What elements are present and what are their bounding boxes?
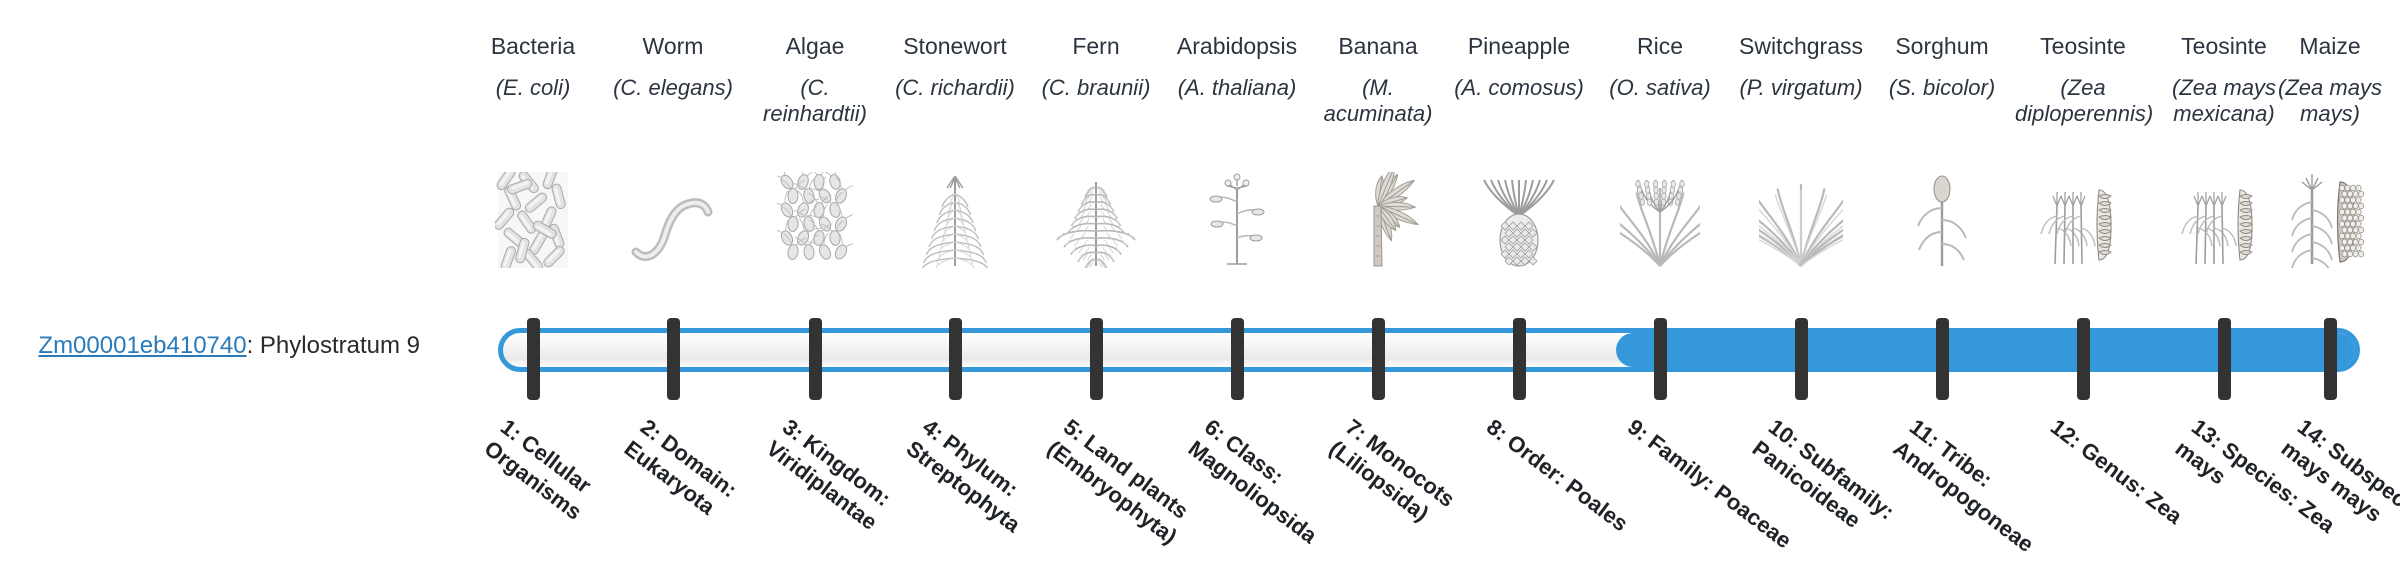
species-column: Rice(O. sativa) [1590,32,1730,101]
stratum-rank: Genus: [2076,437,2152,503]
nematode-worm-icon [603,168,743,268]
stratum-tick[interactable] [1654,318,1667,400]
species-latin-name: (Zea mays mays) [2260,75,2400,128]
species-column: Banana(M. acuminata) [1308,32,1448,128]
banana-plant-icon [1308,168,1448,268]
rice-plant-icon [1590,168,1730,268]
stratum-tick[interactable] [1513,318,1526,400]
species-latin-name: (C. richardii) [885,75,1025,101]
species-column: Stonewort(C. richardii) [885,32,1025,101]
species-latin-name: (A. comosus) [1449,75,1589,101]
species-common-name: Bacteria [463,32,603,61]
stratum-tick[interactable] [2077,318,2090,400]
gene-label-separator: : [247,332,260,359]
species-column: Maize(Zea mays mays) [2260,32,2400,128]
stratum-tick[interactable] [1372,318,1385,400]
stratum-tick[interactable] [949,318,962,400]
bacteria-rods-icon [463,168,603,268]
species-common-name: Rice [1590,32,1730,61]
stratum-taxon: Poaceae [1710,480,1796,554]
species-column: Algae(C. reinhardtii) [745,32,885,128]
species-latin-name: (C. braunii) [1026,75,1166,101]
species-common-name: Banana [1308,32,1448,61]
phylostratum-bar-fill [1616,333,2360,367]
species-column: Arabidopsis(A. thaliana) [1167,32,1307,101]
stratum-tick[interactable] [1231,318,1244,400]
stratum-number: 12: [2046,414,2086,453]
stratum-tick[interactable] [2324,318,2337,400]
species-latin-name: (C. reinhardtii) [745,75,885,128]
species-common-name: Maize [2260,32,2400,61]
pineapple-icon [1449,168,1589,268]
species-common-name: Fern [1026,32,1166,61]
stratum-taxon: Poales [1561,474,1633,537]
species-common-name: Switchgrass [1731,32,1871,61]
species-latin-name: (A. thaliana) [1167,75,1307,101]
stratum-rank: Order: [1502,429,1571,489]
species-common-name: Teosinte [2013,32,2153,61]
stratum-tick[interactable] [1936,318,1949,400]
species-column: Pineapple(A. comosus) [1449,32,1589,101]
arabidopsis-icon [1167,168,1307,268]
gene-id-link[interactable]: Zm00001eb410740 [38,332,246,359]
stratum-tick[interactable] [527,318,540,400]
species-latin-name: (C. elegans) [603,75,743,101]
stratum-tick[interactable] [2218,318,2231,400]
species-common-name: Algae [745,32,885,61]
stratum-tick[interactable] [1090,318,1103,400]
stratum-taxon: Zea [2142,486,2187,529]
species-common-name: Stonewort [885,32,1025,61]
fern-frond-icon [1026,168,1166,268]
species-column: Teosinte(Zea diploperennis) [2013,32,2153,128]
maize-plant-cob-icon [2260,168,2400,268]
teosinte-plant-ear-icon [2013,168,2153,268]
stratum-tick[interactable] [809,318,822,400]
species-column: Bacteria(E. coli) [463,32,603,101]
species-latin-name: (M. acuminata) [1308,75,1448,128]
stratum-tick[interactable] [667,318,680,400]
species-common-name: Arabidopsis [1167,32,1307,61]
stratum-rank: Family: [1643,429,1720,495]
species-latin-name: (S. bicolor) [1872,75,2012,101]
stonewort-icon [885,168,1025,268]
phylostratum-figure: Zm00001eb410740: Phylostratum 9 Bacteria… [0,0,2400,580]
green-algae-icon [745,168,885,268]
species-latin-name: (Zea diploperennis) [2013,75,2153,128]
species-latin-name: (P. virgatum) [1731,75,1871,101]
species-column: Fern(C. braunii) [1026,32,1166,101]
species-column: Worm(C. elegans) [603,32,743,101]
species-latin-name: (E. coli) [463,75,603,101]
switchgrass-icon [1731,168,1871,268]
stratum-tick[interactable] [1795,318,1808,400]
gene-phylostratum-label: Zm00001eb410740: Phylostratum 9 [30,332,420,360]
species-common-name: Pineapple [1449,32,1589,61]
species-common-name: Sorghum [1872,32,2012,61]
species-latin-name: (O. sativa) [1590,75,1730,101]
sorghum-icon [1872,168,2012,268]
species-column: Sorghum(S. bicolor) [1872,32,2012,101]
phylostratum-value-text: Phylostratum 9 [260,332,420,359]
species-column: Switchgrass(P. virgatum) [1731,32,1871,101]
species-common-name: Worm [603,32,743,61]
